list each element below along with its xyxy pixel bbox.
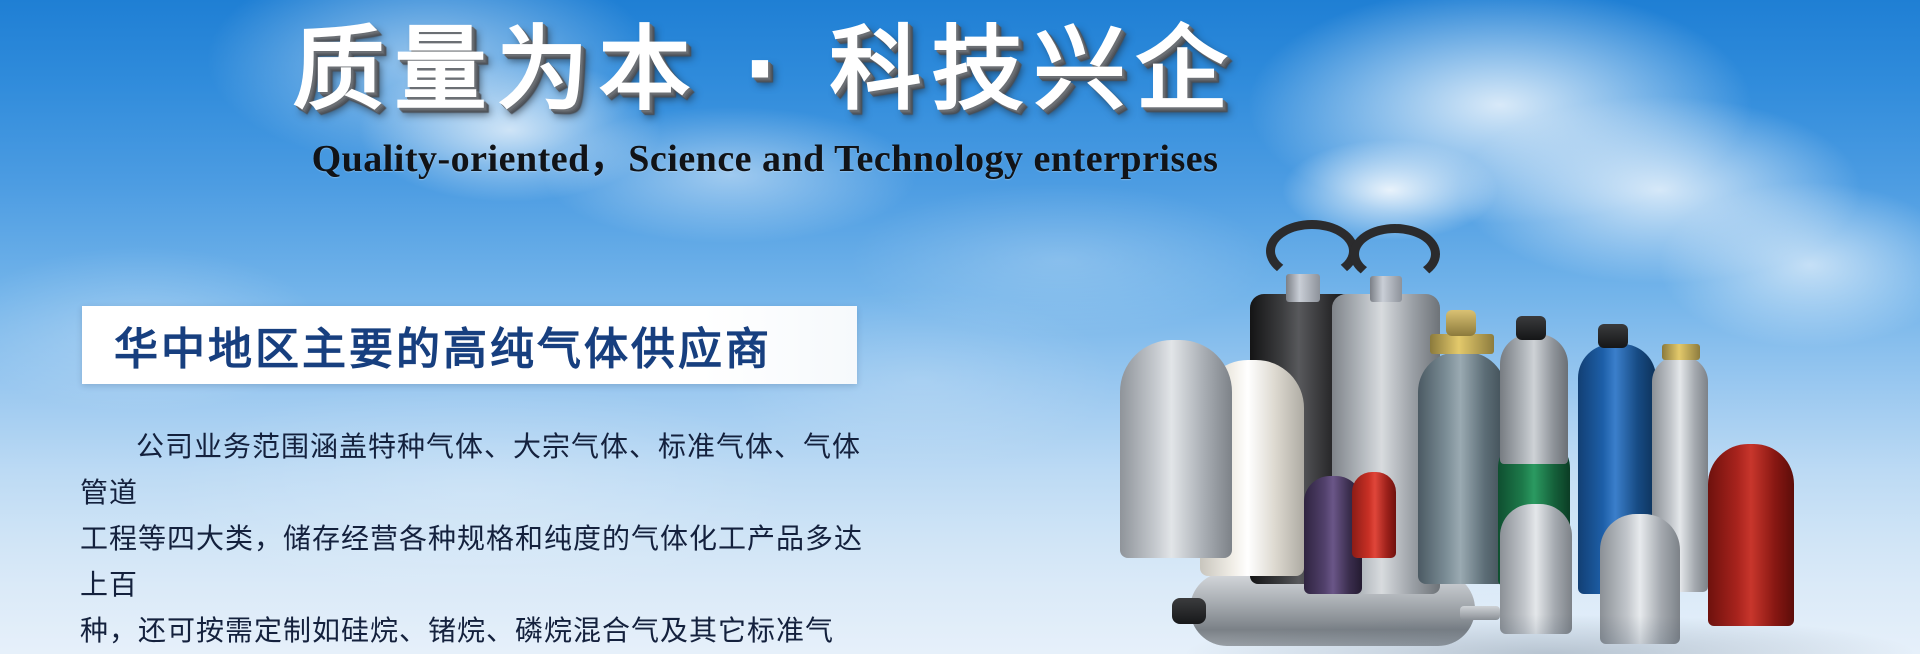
paragraph-line-1: 公司业务范围涵盖特种气体、大宗气体、标准气体、气体管道 — [80, 424, 870, 516]
teal-valve-cylinder — [1418, 352, 1506, 584]
aluminium-cylinder-valve — [1662, 344, 1700, 360]
black-cylinder-handle — [1266, 220, 1358, 282]
description-paragraph: 公司业务范围涵盖特种气体、大宗气体、标准气体、气体管道 工程等四大类，储存经营各… — [80, 424, 870, 654]
grey-cylinder-handle — [1350, 224, 1440, 284]
page-title: 质量为本 · 科技兴企 — [0, 18, 1530, 121]
paragraph-line-2: 工程等四大类，储存经营各种规格和纯度的气体化工产品多达上百 — [80, 516, 870, 608]
paragraph-line-3: 种，还可按需定制如硅烷、锗烷、磷烷混合气及其它标准气体。 — [80, 608, 870, 654]
red-small-cylinder — [1352, 472, 1396, 558]
green-cylinder-knob — [1516, 316, 1546, 340]
promo-banner: 质量为本 · 科技兴企 Quality-oriented，Science and… — [0, 0, 1920, 654]
green-cylinder-upper — [1500, 334, 1568, 464]
dark-red-cylinder — [1708, 444, 1794, 626]
slogan-box: 华中地区主要的高纯气体供应商 — [82, 306, 857, 384]
blue-cylinder-knob — [1598, 324, 1628, 348]
paragraph-line-1-text: 公司业务范围涵盖特种气体、大宗气体、标准气体、气体管道 — [80, 430, 861, 509]
teal-cylinder-cap — [1446, 310, 1476, 336]
teal-cylinder-valve — [1430, 334, 1494, 354]
gas-cylinders-photo — [1180, 134, 1920, 654]
slogan-text: 华中地区主要的高纯气体供应商 — [114, 313, 772, 377]
photo-ground-shadow — [1180, 614, 1920, 654]
light-grey-cylinder — [1120, 340, 1232, 558]
